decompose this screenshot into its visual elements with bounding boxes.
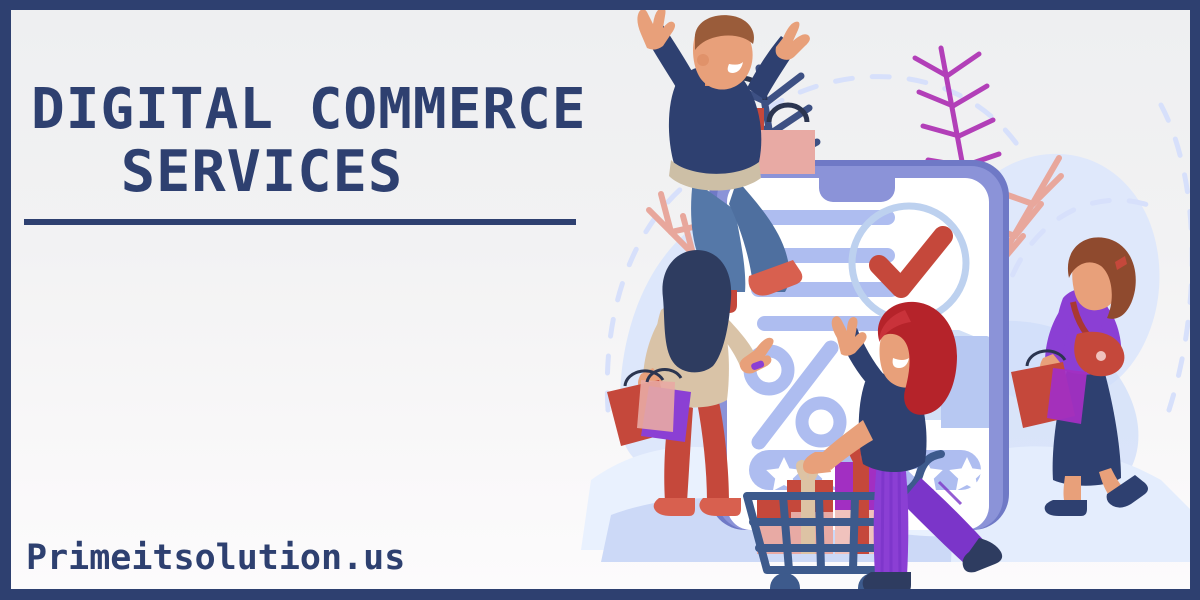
site-url-label: Primeitsolution.us (26, 538, 405, 578)
title-underline-rule (24, 219, 576, 225)
banner-root: DIGITAL COMMERCE SERVICES Primeitsolutio… (0, 0, 1200, 600)
ecommerce-shopping-illustration (501, 10, 1200, 590)
